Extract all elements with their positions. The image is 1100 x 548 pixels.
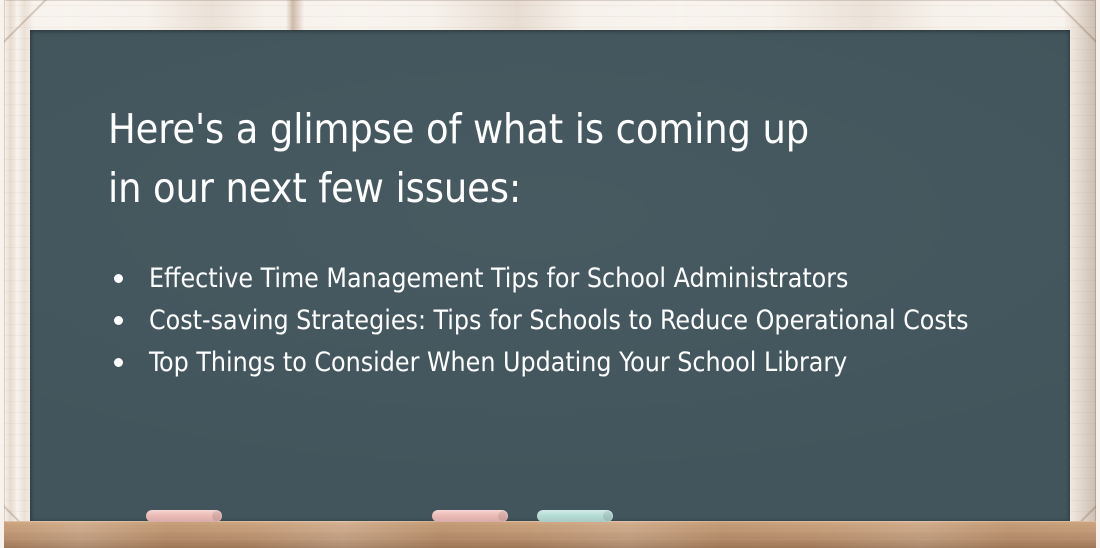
list-item-label: Cost-saving Strategies: Tips for Schools… [149,305,969,336]
chalk-tray [4,521,1096,548]
list-item: Top Things to Consider When Updating You… [108,342,979,384]
list-item: Cost-saving Strategies: Tips for Schools… [108,300,979,342]
headline-text: Here's a glimpse of what is coming up in… [108,100,1030,218]
frame-wood-knot [286,0,304,30]
chalk-end-cap [212,511,221,521]
bullet-dot-icon [114,358,123,367]
chalk-stick-pink-center [432,510,508,522]
bullet-dot-icon [114,316,123,325]
chalkboard-surface: Here's a glimpse of what is coming up in… [30,30,1070,521]
upcoming-issues-list: Effective Time Management Tips for Schoo… [108,258,1030,384]
chalk-tray-wood-grain [4,521,1096,548]
chalk-stick-aqua-right [537,510,613,522]
chalk-stick-pink-left [146,510,222,522]
chalk-end-cap [603,511,612,521]
chalk-end-cap [498,511,507,521]
list-item-label: Top Things to Consider When Updating You… [149,347,847,378]
list-item-label: Effective Time Management Tips for Schoo… [149,263,848,294]
bullet-dot-icon [114,274,123,283]
chalkboard-announcement-slide: Here's a glimpse of what is coming up in… [0,0,1100,548]
list-item: Effective Time Management Tips for Schoo… [108,258,979,300]
frame-top-rail-grain [4,0,1096,30]
chalkboard-content: Here's a glimpse of what is coming up in… [108,100,1030,384]
